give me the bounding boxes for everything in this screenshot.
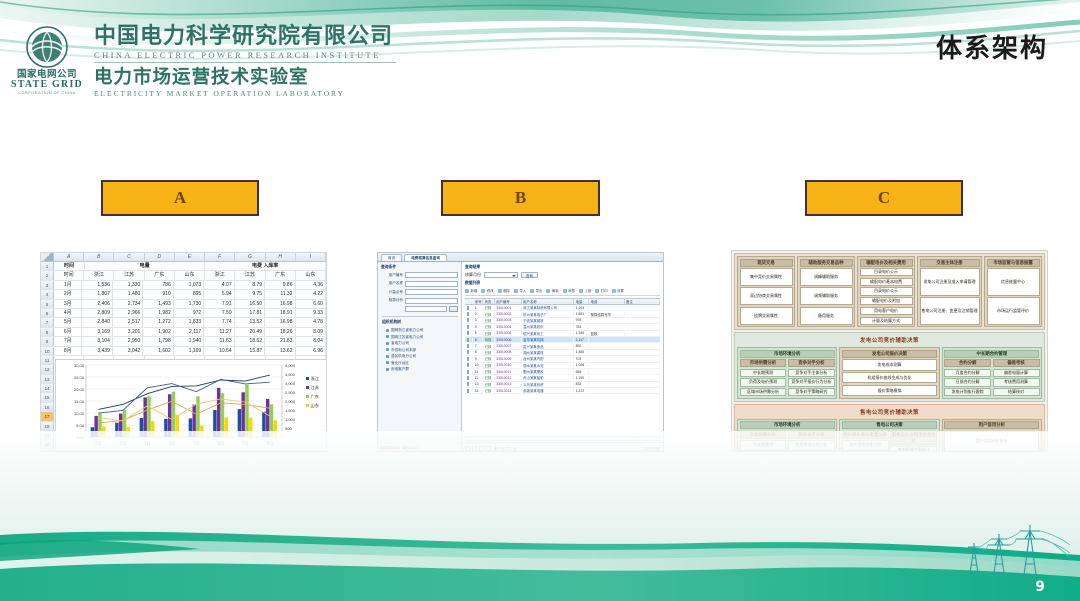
sub-group-title: 市场供需分析: [740, 359, 787, 367]
cell-value: 4.78: [296, 318, 326, 326]
diagram-item[interactable]: 双边协商交易属性: [740, 287, 793, 305]
grid-cell: 已核: [483, 369, 495, 374]
svg-text:25.00: 25.00: [74, 375, 85, 380]
diagram-item[interactable]: 发电公司注册及准入申请管理: [920, 268, 980, 296]
diagram-item[interactable]: 中长期预测: [740, 369, 787, 377]
grid-cell: 已核: [483, 382, 495, 387]
item-column: 偏差考核偏差电量计算考核费用测算结算核对: [993, 359, 1040, 396]
col-header[interactable]: H: [266, 253, 296, 261]
diagram-item[interactable]: 集中竞价交易属性: [740, 268, 793, 286]
row-header[interactable]: 3: [41, 281, 54, 289]
app-tab-bar[interactable]: 首页电费核算信息查询: [378, 253, 663, 262]
field-label: 用户名称: [381, 281, 403, 286]
field-input[interactable]: [405, 306, 447, 312]
group-title: 发电公司报价决策: [842, 350, 937, 358]
diagram-item[interactable]: 备用服务: [800, 307, 853, 325]
row-header[interactable]: 5: [41, 300, 54, 308]
row-checkbox-cell[interactable]: [465, 363, 473, 367]
grid-cell: 义乌某某商贸: [522, 382, 574, 387]
toolbar-button[interactable]: 导入: [514, 288, 526, 293]
cell-value: 7.59: [204, 309, 234, 317]
row-checkbox-cell[interactable]: [465, 325, 473, 329]
grid-cell: 33010010: [495, 363, 522, 367]
diagram-group: 发电公司报价决策发电成本测算机组报价曲线生成与优化报价策略模拟: [839, 347, 939, 399]
toolbar-button[interactable]: 刷新: [546, 288, 558, 293]
item-column: 竞争对手分析竞争对手主体分析竞争对手报价行为分析竞争对手策略研究: [788, 359, 835, 396]
logo-company-en: STATE GRID: [10, 80, 84, 90]
cell-value: 2,117: [174, 328, 204, 336]
diagram-item[interactable]: 偏差电量计算: [993, 369, 1040, 377]
cell-value: 9.86: [265, 281, 295, 289]
grid-toolbar[interactable]: 新增修改删除导入导出刷新审核上报打印设置: [465, 288, 660, 296]
diagram-item[interactable]: 目录电价公示: [860, 287, 913, 295]
toolbar-button[interactable]: 导出: [530, 288, 542, 293]
row-checkbox[interactable]: [467, 306, 469, 310]
row-header[interactable]: 18: [41, 422, 54, 430]
cell-value: 786: [143, 281, 173, 289]
field-label: 核算月份: [381, 298, 403, 303]
screenshot-architecture-diagram[interactable]: 现货交易集中竞价交易属性双边协商交易属性挂牌交易属性辅助服务交易品种调峰辅助服务…: [731, 250, 1048, 452]
item-column: 信息披露中心市场运行监管评价: [987, 268, 1040, 325]
grid-cell: 宁波某某钢铁: [522, 318, 574, 323]
grid-cell: 已核: [483, 331, 495, 336]
grid-header-row: 序号状态用户编号用户名称电量电费备注: [465, 298, 660, 305]
cell-value: 9.33: [296, 309, 326, 317]
diagram-item[interactable]: 竞争对手主体分析: [788, 369, 835, 377]
diagram-item[interactable]: 调频辅助服务: [800, 287, 853, 305]
sub-header: 江苏: [114, 271, 144, 279]
toolbar-icon: [595, 289, 599, 293]
bottom-wave-decoration: [0, 431, 1080, 601]
row-checkbox-cell[interactable]: [465, 376, 473, 380]
row-checkbox-cell[interactable]: [465, 331, 473, 335]
row-checkbox-cell[interactable]: [465, 357, 473, 361]
row-header[interactable]: 10: [41, 347, 54, 355]
form-row: 用户名称: [381, 281, 458, 287]
row-header[interactable]: 14: [41, 384, 54, 392]
tree-node-icon: [386, 348, 389, 351]
cell-value: 1,833: [174, 318, 204, 326]
screenshot-desktop-application[interactable]: 首页电费核算信息查询 查询条件用户编号用户名称计量点号核算月份 组织机构树 国网…: [377, 252, 664, 452]
row-header[interactable]: 13: [41, 375, 54, 383]
label-box-a[interactable]: A: [101, 180, 259, 216]
cell-value: 2,840: [82, 318, 112, 326]
query-form[interactable]: 查询条件用户编号用户名称计量点号核算月份: [381, 265, 458, 312]
field-label: 计量点号: [381, 290, 403, 295]
cell-value: 1,730: [174, 300, 204, 308]
grid-cell: 13: [473, 382, 483, 386]
col-header[interactable]: F: [205, 253, 235, 261]
grid-cell: 33010002: [495, 312, 522, 316]
group-title: 输配电价及相关费用: [860, 259, 913, 267]
row-header[interactable]: 9: [41, 337, 54, 345]
table-group-header-row: 1 时间 电量 电费 入库率: [41, 262, 326, 271]
diagram-group: 交易主体注册发电公司注册及准入申请管理售电公司注册、变更及注销管理: [917, 256, 982, 327]
transmission-towers-icon: [950, 513, 1070, 583]
grid-cell: 33010009: [495, 357, 522, 361]
filter-query-button[interactable]: 查询: [521, 272, 538, 278]
diagram-item[interactable]: 发电计划执行跟踪: [944, 388, 991, 396]
grid-cell: 3: [473, 318, 483, 322]
row-checkbox-cell[interactable]: [465, 318, 473, 322]
cell-value: 8.04: [296, 337, 326, 345]
table-row: 97月3,1042,9501,7981,94011.6318.6221.838.…: [41, 337, 326, 346]
diagram-item[interactable]: 信息披露中心: [987, 268, 1040, 296]
toolbar-label: 刷新: [552, 288, 559, 293]
toolbar-icon: [579, 289, 583, 293]
row-checkbox[interactable]: [467, 331, 469, 335]
grid-cell: 已核: [483, 318, 495, 323]
grid-cell: 核算结算完毕: [589, 312, 624, 317]
grid-cell: 33010013: [495, 382, 522, 386]
row-checkbox-cell[interactable]: [465, 344, 473, 348]
group-columns: 市场供需分析中长期预测负荷及电价预测区域市场供需分析竞争对手分析竞争对手主体分析…: [740, 359, 835, 396]
svg-text:广东: 广东: [311, 393, 319, 400]
cell-value: 13.62: [265, 347, 295, 355]
label-box-c[interactable]: C: [805, 180, 963, 216]
toolbar-button[interactable]: 打印: [595, 288, 607, 293]
group-title: 中长期合约管理: [944, 350, 1039, 358]
row-checkbox[interactable]: [467, 312, 469, 316]
diagram-item[interactable]: 区域市场供需分析: [740, 388, 787, 396]
tree-item[interactable]: 用电客户群: [381, 366, 458, 373]
col-header[interactable]: A: [54, 253, 84, 261]
field-input[interactable]: [405, 281, 458, 287]
row-header[interactable]: 6: [41, 309, 54, 317]
grid-cell: 金华某某机械: [522, 337, 574, 342]
diagram-item[interactable]: 负荷及电价预测: [740, 378, 787, 386]
org-title-cn: 中国电力科学研究院有限公司: [94, 24, 396, 49]
row-checkbox-cell[interactable]: [465, 382, 473, 386]
grid-cell: 1: [473, 306, 483, 310]
cell-value: 11.32: [265, 290, 295, 298]
cell-value: 18.91: [265, 309, 295, 317]
grid-cell: 1,028: [574, 363, 589, 367]
toolbar-label: 打印: [601, 288, 608, 293]
row-checkbox-cell[interactable]: [465, 370, 473, 374]
toolbar-label: 导入: [519, 288, 526, 293]
row-checkbox[interactable]: [467, 338, 469, 342]
row-header[interactable]: 8: [41, 328, 54, 336]
tree-panel-title: 组织机构树: [382, 316, 458, 325]
row-checkbox[interactable]: [467, 357, 469, 361]
svg-text:2,500: 2,500: [285, 390, 296, 395]
cell-value: 1,807: [82, 290, 112, 298]
row-header[interactable]: 17: [41, 412, 54, 420]
field-label: 用户编号: [381, 273, 403, 278]
diagram-item[interactable]: 用电客户电价: [860, 307, 913, 315]
svg-text:浙江: 浙江: [311, 375, 319, 382]
row-header[interactable]: 4: [41, 290, 54, 298]
grid-cell: 33010014: [495, 389, 522, 393]
field-input[interactable]: [405, 272, 458, 278]
grid-cell: 待核: [483, 337, 495, 342]
grid-cell: 33010007: [495, 344, 522, 348]
grid-cell: 已核: [483, 305, 495, 310]
svg-text:10.00: 10.00: [74, 411, 85, 416]
sub-group-title: 偏差考核: [993, 359, 1040, 367]
toolbar-button[interactable]: 设置: [612, 288, 624, 293]
row-checkbox[interactable]: [467, 350, 469, 354]
tree-node-icon: [386, 368, 389, 371]
architecture-top-band: 现货交易集中竞价交易属性双边协商交易属性挂牌交易属性辅助服务交易品种调峰辅助服务…: [734, 253, 1045, 330]
grid-cell: 33010012: [495, 376, 522, 380]
grid-column-header[interactable]: 状态: [483, 299, 495, 304]
cell-value: 6.96: [296, 347, 326, 355]
grid-row[interactable]: 14已核33010014余姚某某电器1,372: [465, 388, 660, 394]
cell-value: 7.91: [204, 300, 234, 308]
grid-cell: 浙江某某制造有限公司: [522, 305, 574, 310]
select-all-corner[interactable]: [41, 253, 54, 261]
group-title: 现货交易: [740, 259, 793, 267]
architecture-mid-band: 发电公司竞价辅助决策 市场环境分析市场供需分析中长期预测负荷及电价预测区域市场供…: [734, 332, 1045, 402]
cell-value: 1,902: [143, 328, 173, 336]
col-header[interactable]: E: [175, 253, 205, 261]
row-checkbox[interactable]: [467, 344, 469, 348]
group-title: 交易主体注册: [920, 259, 980, 267]
grid-column-header[interactable]: 用户编号: [495, 299, 522, 304]
row-checkbox[interactable]: [467, 325, 469, 329]
svg-text:15.00: 15.00: [74, 399, 85, 404]
grid-cell: 33010011: [495, 370, 522, 374]
row-header[interactable]: 1: [41, 262, 54, 270]
diagram-item[interactable]: 考核费用测算: [993, 378, 1040, 386]
field-input[interactable]: [405, 289, 458, 295]
grid-cell: 6: [473, 338, 483, 342]
cell-value: 1,480: [113, 290, 143, 298]
cell-value: 3,169: [82, 328, 112, 336]
grid-cell: 7: [473, 344, 483, 348]
cell-value: 2,406: [82, 300, 112, 308]
sub-header: 浙江: [205, 271, 235, 279]
cell-value: 11.63: [204, 337, 234, 345]
row-header[interactable]: 12: [41, 365, 54, 373]
filter-label: 核算月份: [465, 272, 481, 278]
grid-column-header[interactable]: 备注: [625, 299, 660, 304]
field-input[interactable]: [405, 298, 458, 304]
lab-title-cn: 电力市场运营技术实验室: [94, 66, 396, 89]
month-select[interactable]: [484, 272, 518, 278]
grid-column-header[interactable]: 用户名称: [522, 299, 574, 304]
grid-cell: 2: [473, 312, 483, 316]
col-header[interactable]: D: [145, 253, 175, 261]
cell-value: 3,201: [113, 328, 143, 336]
row-header[interactable]: 15: [41, 393, 54, 401]
grid-cell: 1,456: [574, 350, 589, 354]
grid-cell: 复核: [589, 331, 624, 336]
cell-value: 1,798: [143, 337, 173, 345]
form-row: 计量点号: [381, 289, 458, 295]
grid-cell: 丽水某某水泥: [522, 363, 574, 368]
diagram-item[interactable]: 日前合约分解: [944, 378, 991, 386]
diagram-group: 输配电价及相关费用目录电价公示输配电价基本电费目录电价公示输配电价及附加用电客户…: [857, 256, 915, 327]
brand-header: 国家电网公司 STATE GRID CORPORATION OF CHINA 中…: [10, 22, 396, 99]
sub-header: 江苏: [235, 271, 265, 279]
grid-cell: 1,340: [574, 331, 589, 335]
cell-value: 3,042: [113, 347, 143, 355]
row-checkbox[interactable]: [467, 389, 469, 393]
diagram-item[interactable]: 月度合约分解: [944, 369, 991, 377]
cell-value: 972: [174, 309, 204, 317]
toolbar-label: 导出: [536, 288, 543, 293]
row-header[interactable]: 11: [41, 356, 54, 364]
toolbar-button[interactable]: 删除: [498, 288, 510, 293]
logo-company-cn: 国家电网公司: [10, 69, 84, 80]
cell-value: 16.98: [265, 318, 295, 326]
diagram-item[interactable]: 机组报价曲线生成与优化: [842, 372, 937, 383]
cell-value: 11.27: [204, 328, 234, 336]
diagram-group: 现货交易集中竞价交易属性双边协商交易属性挂牌交易属性: [737, 256, 795, 327]
spreadsheet-column-headers: A B C D E F G H I: [41, 253, 326, 262]
grid-cell: 已核: [483, 375, 495, 380]
diagram-item[interactable]: 结算核对: [993, 388, 1040, 396]
form-row: 核算月份: [381, 298, 458, 304]
col-header[interactable]: G: [235, 253, 265, 261]
sub-header: 广东: [266, 271, 296, 279]
grid-column-header[interactable]: 序号: [473, 299, 483, 304]
cell-value: 20.49: [235, 328, 265, 336]
group-header-rate: 电费 入库率: [205, 262, 326, 270]
filter-toolbar[interactable]: 核算月份 查询: [465, 272, 660, 278]
row-checkbox[interactable]: [467, 382, 469, 386]
sub-group-title: 合约分解: [944, 359, 991, 367]
query-form-title: 查询条件: [381, 265, 458, 270]
col-header[interactable]: C: [114, 253, 144, 261]
toolbar-button[interactable]: 新增: [465, 288, 477, 293]
row-header[interactable]: 7: [41, 318, 54, 326]
tree-node-icon: [386, 335, 389, 338]
cell-value: 1,330: [113, 281, 143, 289]
diagram-item[interactable]: 目录电价公示: [860, 268, 913, 276]
svg-text:5.00: 5.00: [76, 423, 85, 428]
row-checkbox[interactable]: [467, 376, 469, 380]
diagram-item[interactable]: 计量及结算方式: [860, 317, 913, 325]
col-header[interactable]: B: [84, 253, 114, 261]
grid-cell: 978: [574, 318, 589, 322]
cell-value: 9.75: [235, 290, 265, 298]
row-checkbox-cell[interactable]: [465, 306, 473, 310]
cell-month: 7月: [54, 337, 82, 345]
cell-value: 8.09: [296, 328, 326, 336]
sub-header: 广东: [145, 271, 175, 279]
grid-cell: 33010005: [495, 331, 522, 335]
toolbar-icon: [514, 289, 518, 293]
diagram-item[interactable]: 发电成本测算: [842, 359, 937, 370]
grid-cell: 已核: [483, 312, 495, 317]
row-checkbox-cell[interactable]: [465, 389, 473, 393]
cell-month: 5月: [54, 318, 82, 326]
logo-company-en-sub: CORPORATION OF CHINA: [10, 90, 84, 96]
cell-value: 6.60: [296, 300, 326, 308]
diagram-item[interactable]: 输配电价及附加: [860, 297, 913, 305]
toolbar-button[interactable]: 上报: [579, 288, 591, 293]
svg-text:2,000: 2,000: [285, 399, 296, 404]
grid-cell: 杭州某某电子厂: [522, 312, 574, 317]
label-box-b[interactable]: B: [441, 180, 600, 216]
app-tab[interactable]: 首页: [381, 254, 402, 261]
diagram-item[interactable]: 报价策略模拟: [842, 385, 937, 396]
table-row: 64月2,8092,9661,9829727.5917.8118.919.33: [41, 309, 326, 318]
group-title: 市场监管与信息披露: [987, 259, 1040, 267]
toolbar-button[interactable]: 修改: [481, 288, 493, 293]
grid-cell: 4: [473, 325, 483, 329]
state-grid-emblem-icon: [19, 24, 75, 70]
cell-value: 1,940: [174, 337, 204, 345]
screenshot-spreadsheet-chart[interactable]: A B C D E F G H I 1 时间 电量 电费 入库率 2 时间 浙江…: [40, 252, 327, 452]
state-grid-logo: 国家电网公司 STATE GRID CORPORATION OF CHINA: [10, 24, 84, 98]
grid-column-header[interactable]: 电量: [574, 299, 589, 304]
form-row-submit: [381, 306, 458, 312]
cell-value: 2,950: [113, 337, 143, 345]
app-tab[interactable]: 电费核算信息查询: [404, 254, 447, 261]
row-checkbox[interactable]: [467, 318, 469, 322]
toolbar-icon: [465, 289, 469, 293]
toolbar-label: 修改: [487, 288, 494, 293]
diagram-item[interactable]: 竞争对手策略研究: [788, 388, 835, 396]
row-checkbox-cell[interactable]: [465, 350, 473, 354]
grid-cell: 8: [473, 350, 483, 354]
tree-node-icon: [386, 329, 389, 332]
grid-cell: 9: [473, 357, 483, 361]
row-header[interactable]: 2: [41, 271, 54, 279]
cell-value: 8.79: [235, 281, 265, 289]
cell-value: 1,602: [143, 347, 173, 355]
toolbar-label: 设置: [617, 288, 624, 293]
table-row: 75月2,8402,5171,2721,8337.7413.5216.984.7…: [41, 318, 326, 327]
item-column: 调峰辅助服务调频辅助服务备用服务: [800, 268, 853, 325]
row-header[interactable]: 16: [41, 403, 54, 411]
grid-body[interactable]: 1已核33010001浙江某某制造有限公司1,2032已核33010002杭州某…: [465, 305, 660, 394]
toolbar-button[interactable]: 审核: [563, 288, 575, 293]
cell-value: 3,104: [82, 337, 112, 345]
org-tree[interactable]: 国网浙江省电力公司国网江苏省电力公司省电力公司市供电公司本部县区供电分公司营业厅…: [381, 327, 458, 373]
grid-cell: 833: [574, 382, 589, 386]
diagram-item[interactable]: 竞争对手报价行为分析: [788, 378, 835, 386]
slide-canvas: 国家电网公司 STATE GRID CORPORATION OF CHINA 中…: [0, 0, 1080, 601]
slide-title: 体系架构: [936, 28, 1048, 65]
grid-cell: 台州某某汽配: [522, 356, 574, 361]
cell-month: 3月: [54, 300, 82, 308]
row-checkbox[interactable]: [467, 370, 469, 374]
diagram-item[interactable]: 挂牌交易属性: [740, 307, 793, 325]
grid-cell: 衢州某某塑胶: [522, 369, 574, 374]
col-header[interactable]: I: [296, 253, 326, 261]
toolbar-icon: [612, 289, 616, 293]
sub-header: 浙江: [84, 271, 114, 279]
sub-header: 山东: [296, 271, 326, 279]
diagram-item[interactable]: 市场运行监管评价: [987, 297, 1040, 325]
svg-text:30.00: 30.00: [74, 363, 85, 368]
cell-month: 4月: [54, 309, 82, 317]
cell-value: 1,536: [82, 281, 112, 289]
cell-value: 1,493: [143, 300, 173, 308]
row-checkbox-cell[interactable]: [465, 338, 473, 342]
grid-column-header[interactable]: 电费: [589, 299, 624, 304]
diagram-item[interactable]: 调峰辅助服务: [800, 268, 853, 286]
toolbar-icon: [563, 289, 567, 293]
grid-cell: 1,190: [574, 376, 589, 380]
grid-cell: 14: [473, 389, 483, 393]
diagram-item[interactable]: 售电公司注册、变更及注销管理: [920, 297, 980, 325]
row-checkbox-cell[interactable]: [465, 312, 473, 316]
row-checkbox[interactable]: [467, 363, 469, 367]
query-submit-button[interactable]: [449, 306, 458, 312]
cell-value: 895: [174, 290, 204, 298]
cell-value: 910: [143, 290, 173, 298]
toolbar-label: 上报: [584, 288, 591, 293]
item-column: 发电公司注册及准入申请管理售电公司注册、变更及注销管理: [920, 268, 980, 325]
diagram-item[interactable]: 输配电价基本电费: [860, 278, 913, 286]
